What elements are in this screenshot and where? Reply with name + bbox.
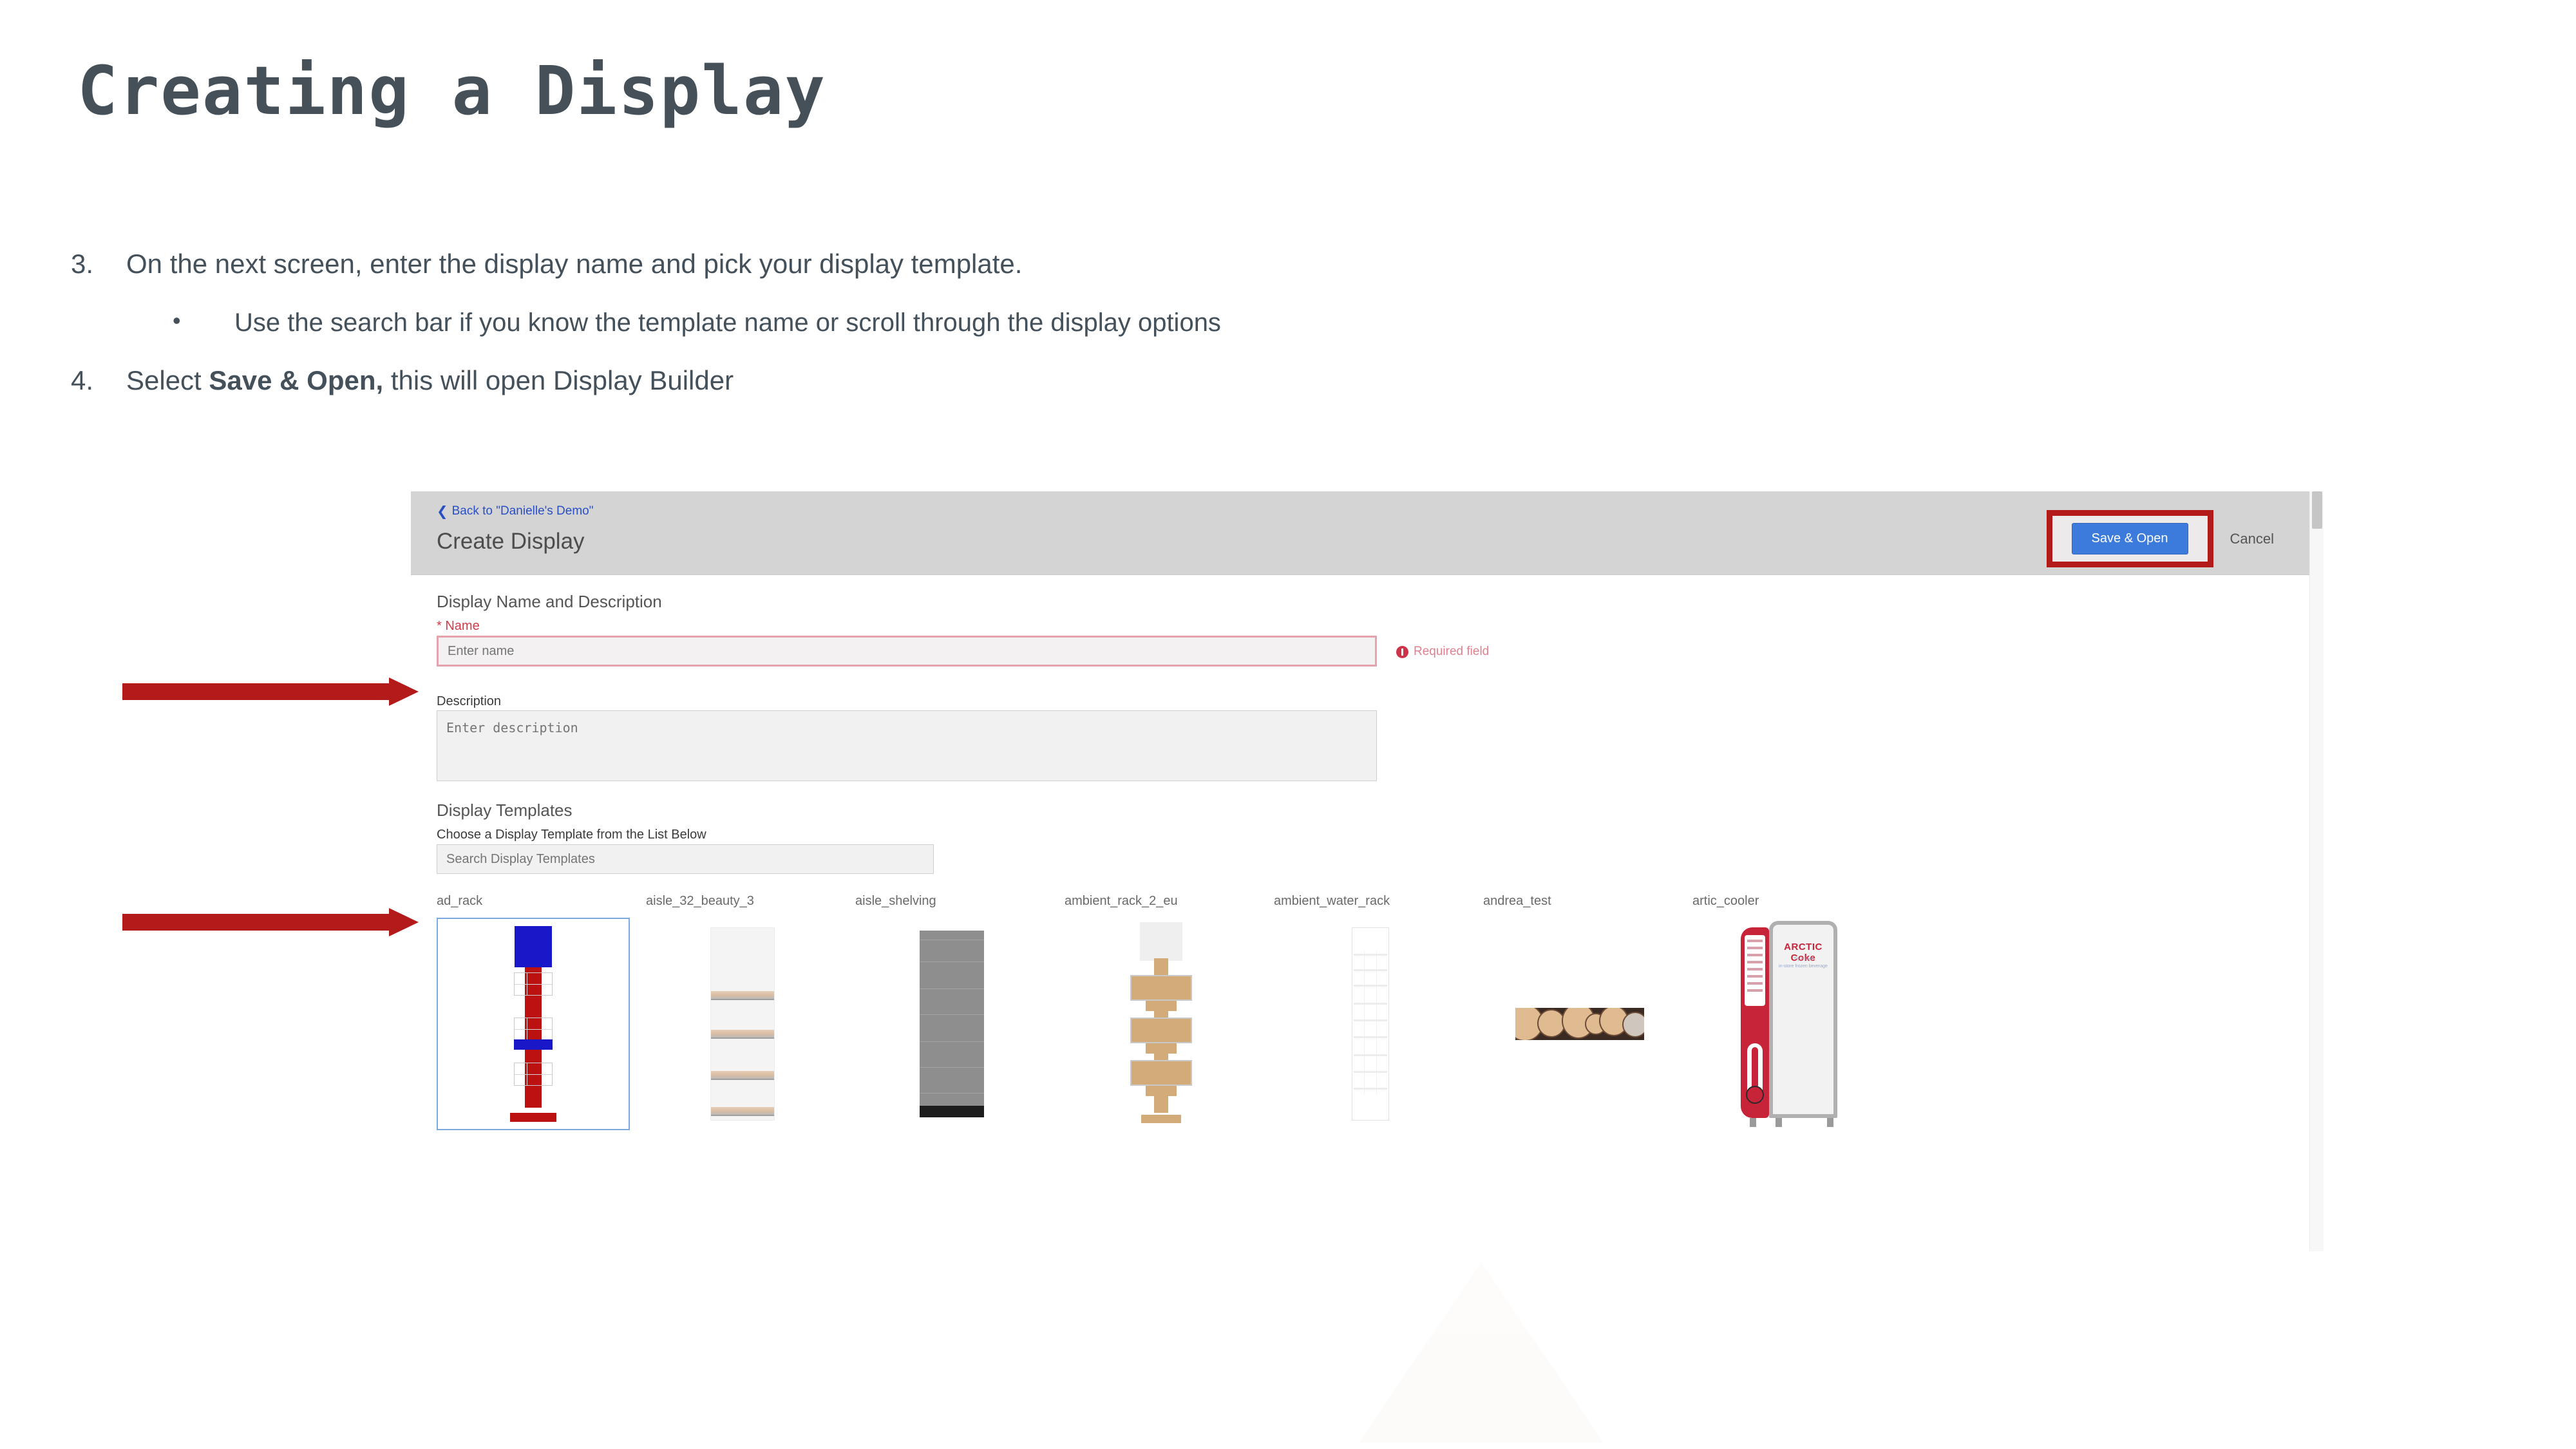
name-input[interactable] <box>437 636 1377 667</box>
annotation-arrow-search-field <box>122 908 419 936</box>
cooler-door: ARCTIC Coke Try it now in-store frozen b… <box>1769 921 1837 1118</box>
gondola-illustration <box>920 931 984 1117</box>
cooler-tagline-line2: in-store frozen beverage <box>1773 963 1833 970</box>
header-actions: Save & Open Cancel <box>2047 510 2274 567</box>
page-title: Creating a Display <box>77 52 826 130</box>
cooler-tagline-line1: Try it now <box>1773 956 1833 963</box>
template-label: aisle_32_beauty_3 <box>646 894 855 909</box>
embedded-app-screenshot: ❮ Back to "Danielle's Demo" Create Displ… <box>411 491 2324 1251</box>
template-thumbnail-aisle-32-beauty-3[interactable] <box>646 918 839 1130</box>
template-label: andrea_test <box>1483 894 1692 909</box>
template-thumbnail-aisle-shelving[interactable] <box>855 918 1048 1130</box>
list-item-step4: 4. Select Save & Open, this will open Di… <box>71 361 1810 401</box>
template-card-ambient-rack-2-eu[interactable]: ambient_rack_2_eu <box>1065 894 1274 1130</box>
template-card-ad-rack[interactable]: ad_rack <box>437 894 646 1130</box>
cooler-side-panel <box>1741 927 1769 1118</box>
background-watermark <box>1359 1262 1604 1443</box>
step4-text-bold: Save & Open, <box>209 365 383 395</box>
substep-text: Use the search bar if you know the templ… <box>234 303 1221 342</box>
search-display-templates-input[interactable] <box>437 844 934 874</box>
log-texture-illustration <box>1515 1008 1644 1040</box>
name-field-label: * Name <box>437 619 480 634</box>
templates-instruction-label: Choose a Display Template from the List … <box>437 828 706 842</box>
template-label: artic_cooler <box>1692 894 1902 909</box>
step4-number: 4. <box>71 361 126 401</box>
list-item-substep: • Use the search bar if you know the tem… <box>167 303 1810 342</box>
template-thumbnail-ambient-rack-2-eu[interactable] <box>1065 918 1258 1130</box>
template-card-aisle-shelving[interactable]: aisle_shelving <box>855 894 1065 1130</box>
water-rack-illustration <box>1352 927 1389 1121</box>
back-link[interactable]: ❮ Back to "Danielle's Demo" <box>437 504 593 518</box>
section-title-name-description: Display Name and Description <box>437 592 662 612</box>
vertical-scrollbar[interactable] <box>2309 491 2324 1251</box>
ambient-rack-illustration <box>1103 921 1219 1127</box>
list-item-step3: 3. On the next screen, enter the display… <box>71 245 1810 284</box>
app-header: ❮ Back to "Danielle's Demo" Create Displ… <box>411 491 2309 575</box>
template-card-ambient-water-rack[interactable]: ambient_water_rack <box>1274 894 1483 1130</box>
cancel-button[interactable]: Cancel <box>2230 531 2274 547</box>
template-grid: ad_rack <box>437 894 1902 1130</box>
ad-rack-illustration <box>438 921 629 1127</box>
back-link-label: Back to "Danielle's Demo" <box>452 504 594 518</box>
template-card-andrea-test[interactable]: andrea_test <box>1483 894 1692 1130</box>
template-label: ambient_rack_2_eu <box>1065 894 1274 909</box>
save-and-open-button[interactable]: Save & Open <box>2072 523 2188 554</box>
scrollbar-thumb[interactable] <box>2312 491 2322 529</box>
instruction-list: 3. On the next screen, enter the display… <box>71 245 1810 407</box>
description-field-label: Description <box>437 694 501 709</box>
description-textarea[interactable] <box>437 710 1377 781</box>
slide: Creating a Display 3. On the next screen… <box>0 0 2576 1449</box>
template-card-aisle-32-beauty-3[interactable]: aisle_32_beauty_3 <box>646 894 855 1130</box>
chevron-left-icon: ❮ <box>437 505 448 518</box>
template-thumbnail-artic-cooler[interactable]: ARCTIC Coke Try it now in-store frozen b… <box>1692 918 1886 1130</box>
section-title-display-templates: Display Templates <box>437 800 573 820</box>
step4-text-after: this will open Display Builder <box>383 365 734 395</box>
cooler-tagline: Try it now in-store frozen beverage <box>1773 956 1833 970</box>
app-page-title: Create Display <box>437 529 585 554</box>
template-label: aisle_shelving <box>855 894 1065 909</box>
template-thumbnail-ambient-water-rack[interactable] <box>1274 918 1467 1130</box>
template-thumbnail-ad-rack[interactable] <box>437 918 630 1130</box>
app-body: Display Name and Description * Name Requ… <box>411 575 2309 1251</box>
error-circle-icon <box>1396 646 1408 658</box>
required-field-text: Required field <box>1414 645 1489 659</box>
step3-number: 3. <box>71 245 126 284</box>
step4-text-before: Select <box>126 365 209 395</box>
template-label: ambient_water_rack <box>1274 894 1483 909</box>
template-card-artic-cooler[interactable]: artic_cooler <box>1692 894 1902 1130</box>
template-label: ad_rack <box>437 894 646 909</box>
step4-text: Select Save & Open, this will open Displ… <box>126 361 734 401</box>
required-field-message: Required field <box>1396 645 1489 659</box>
cooler-side-label <box>1745 935 1765 1006</box>
bullet-icon: • <box>167 303 234 338</box>
save-open-highlight-box: Save & Open <box>2047 510 2213 567</box>
annotation-arrow-name-field <box>122 677 419 706</box>
template-thumbnail-andrea-test[interactable] <box>1483 918 1676 1130</box>
step3-text: On the next screen, enter the display na… <box>126 245 1022 284</box>
artic-cooler-illustration: ARCTIC Coke Try it now in-store frozen b… <box>1741 921 1837 1127</box>
beauty-shelf-illustration <box>710 927 775 1121</box>
bottle-cap-icon <box>1746 1086 1764 1104</box>
